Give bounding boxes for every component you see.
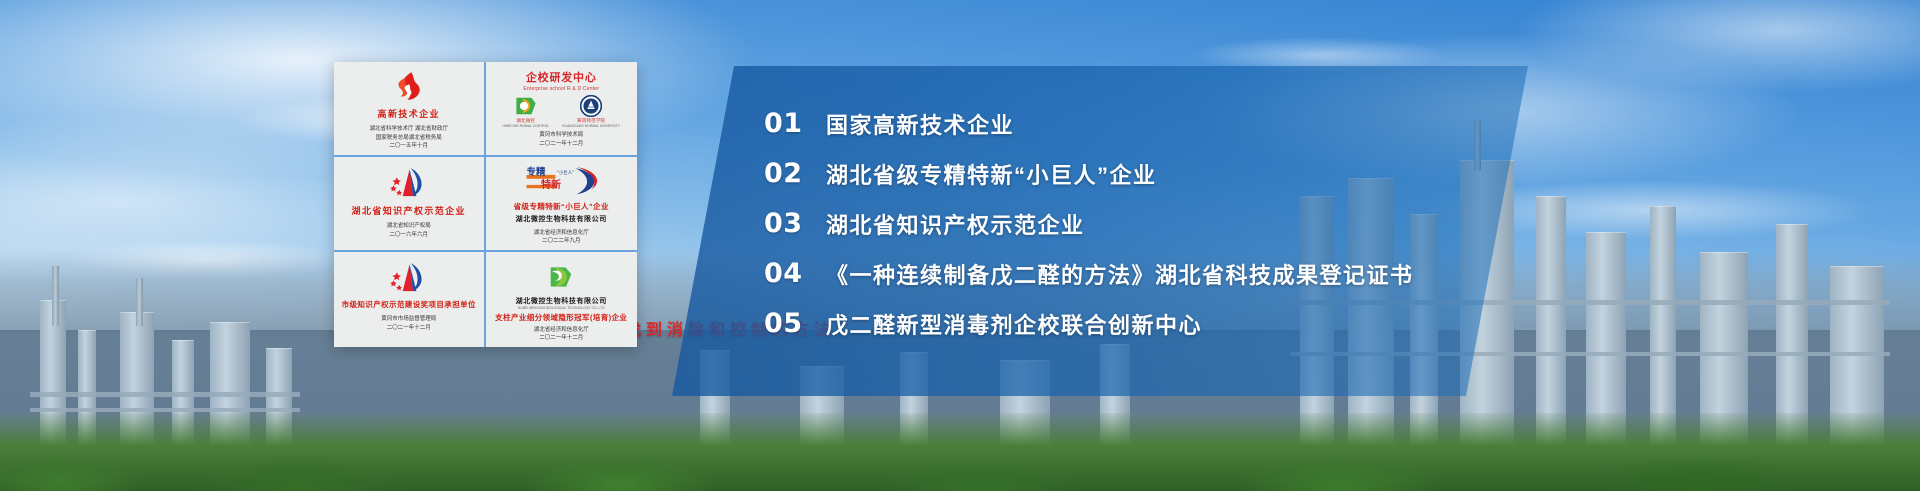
plant-chimney (136, 278, 143, 326)
certificate-meta-line: 湖北省经济和信息化厅 (534, 229, 589, 238)
certificate-meta-line: 黄冈市科学技术局 (539, 131, 583, 140)
plant-pipe (30, 392, 300, 397)
svg-text:特新: 特新 (541, 179, 561, 192)
certificate-company: 湖北微控生物科技有限公司 (516, 296, 607, 306)
achievement-label: 戊二醛新型消毒剂企校联合创新中心 (826, 308, 1202, 340)
achievement-number: 04 (764, 258, 826, 289)
certificate-meta-line: 二〇一五年十月 (369, 142, 448, 151)
achievements-panel: 01 国家高新技术企业 02 湖北省级专精特新“小巨人”企业 03 湖北省知识产… (672, 66, 1528, 396)
certificate-meta-line: 二〇一六年六月 (387, 231, 431, 240)
ip-sail-logo-icon (389, 259, 429, 297)
certificate-meta-line: 湖北省科学技术厅 湖北省财政厅 (369, 125, 448, 134)
certificate-card[interactable]: 湖北微控生物科技有限公司 HUBEI WEIKONG BIOLOGICAL TE… (486, 252, 638, 347)
certificate-card[interactable]: 企校研发中心 Enterprise school R & D Center 湖北… (486, 62, 638, 157)
certificate-meta-line: 黄冈市市场监督管理局 (381, 315, 436, 324)
achievement-label: 湖北省级专精特新“小巨人”企业 (826, 158, 1157, 190)
certificate-meta: 湖北省知识产权局 二〇一六年六月 (387, 222, 431, 239)
certificate-title: 企校研发中心 (526, 69, 597, 85)
achievement-row: 02 湖北省级专精特新“小巨人”企业 (764, 150, 1528, 197)
hubei-weikong-badge-icon (512, 95, 540, 117)
achievement-label: 《一种连续制备戊二醛的方法》湖北省科技成果登记证书 (826, 258, 1414, 290)
certificate-title: 省级专精特新“小巨人”企业 (514, 201, 609, 212)
certificate-meta-line: 二〇二一年十二月 (381, 324, 436, 333)
certificate-title: 高新技术企业 (378, 107, 440, 120)
certificate-meta-line: 国家税务总局湖北省税务局 (369, 134, 448, 143)
partner-badge-left: 湖北微控 HUBEI MICROBIAL CONTROL (502, 95, 549, 128)
vegetation-strip (0, 413, 1920, 491)
zhuanjingtexin-logo-icon: 专精 特新 “小巨人” (522, 164, 600, 199)
certificate-title: 支柱产业细分领域隐形冠军(培育)企业 (495, 312, 627, 323)
certificate-title-en: Enterprise school R & D Center (523, 86, 599, 92)
achievement-row: 03 湖北省知识产权示范企业 (764, 200, 1528, 247)
certificate-grid: 高新技术企业 湖北省科学技术厅 湖北省财政厅 国家税务总局湖北省税务局 二〇一五… (334, 62, 637, 347)
certificate-meta-line: 二〇二一年十二月 (539, 140, 583, 149)
certificate-meta: 湖北省经济和信息化厅 二〇二一年十二月 (534, 326, 589, 343)
plant-structure (1536, 196, 1566, 450)
certificate-meta-line: 湖北省经济和信息化厅 (534, 326, 589, 335)
flame-logo-icon (392, 69, 426, 105)
achievement-number: 01 (764, 108, 826, 139)
certificate-meta-line: 湖北省知识产权局 (387, 222, 431, 231)
achievement-row: 04 《一种连续制备戊二醛的方法》湖北省科技成果登记证书 (764, 250, 1528, 297)
partner-badge-right: 黄冈师范学院 HUANGGANG NORMAL UNIVERSITY (562, 95, 620, 128)
partner-badge-label-en: HUANGGANG NORMAL UNIVERSITY (562, 124, 620, 128)
partner-badge-label-en: HUBEI MICROBIAL CONTROL (502, 124, 549, 128)
achievement-row: 05 戊二醛新型消毒剂企校联合创新中心 (764, 300, 1528, 347)
achievement-number: 03 (764, 208, 826, 239)
certificate-card[interactable]: 高新技术企业 湖北省科学技术厅 湖北省财政厅 国家税务总局湖北省税务局 二〇一五… (334, 62, 486, 157)
certificate-card[interactable]: 专精 特新 “小巨人” 省级专精特新“小巨人”企业 湖北微控生物科技有限公司 湖… (486, 157, 638, 252)
ip-sail-logo-icon (389, 164, 429, 202)
svg-text:专精: 专精 (527, 166, 546, 178)
certificate-meta-line: 二〇二二年九月 (534, 237, 589, 246)
certificate-meta: 湖北省科学技术厅 湖北省财政厅 国家税务总局湖北省税务局 二〇一五年十月 (369, 125, 448, 151)
certificate-meta: 黄冈市市场监督管理局 二〇二一年十二月 (381, 315, 436, 332)
plant-pipe (30, 408, 300, 412)
plant-chimney (52, 266, 59, 326)
certificate-subtitle: 湖北微控生物科技有限公司 (516, 214, 607, 224)
achievement-number: 05 (764, 308, 826, 339)
achievement-row: 01 国家高新技术企业 (764, 100, 1528, 147)
huanggang-normal-university-badge-icon (580, 95, 602, 117)
certificate-title: 市级知识产权示范建设奖项目承担单位 (342, 299, 476, 310)
partner-badges: 湖北微控 HUBEI MICROBIAL CONTROL 黄冈师范学院 HUAN… (502, 95, 620, 128)
achievement-label: 国家高新技术企业 (826, 108, 1014, 140)
svg-text:“小巨人”: “小巨人” (557, 169, 575, 176)
achievement-label: 湖北省知识产权示范企业 (826, 208, 1085, 240)
achievement-number: 02 (764, 158, 826, 189)
certificate-card[interactable]: 市级知识产权示范建设奖项目承担单位 黄冈市市场监督管理局 二〇二一年十二月 (334, 252, 486, 347)
certificate-title: 湖北省知识产权示范企业 (352, 204, 466, 217)
certificate-meta: 黄冈市科学技术局 二〇二一年十二月 (539, 131, 583, 148)
certificate-company-en: HUBEI WEIKONG BIOLOGICAL TECHNOLOGY CO.,… (518, 306, 605, 310)
certificate-meta-line: 二〇二一年十二月 (534, 334, 589, 343)
certificate-card[interactable]: 湖北省知识产权示范企业 湖北省知识产权局 二〇一六年六月 (334, 157, 486, 252)
certificate-meta: 湖北省经济和信息化厅 二〇二二年九月 (534, 229, 589, 246)
weikong-corporate-logo-icon (546, 259, 576, 295)
